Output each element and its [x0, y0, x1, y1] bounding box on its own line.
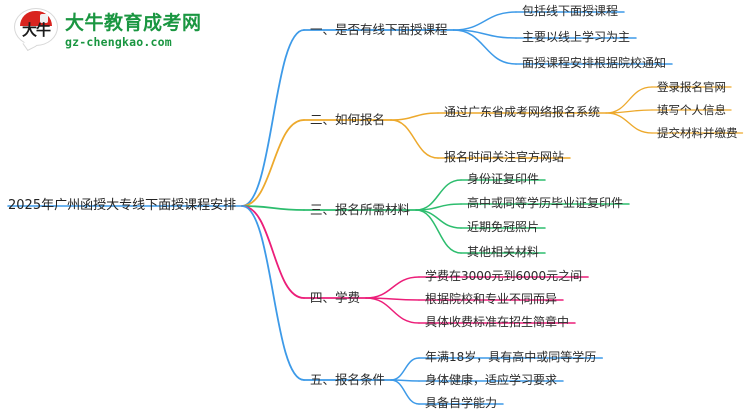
mindmap-leaf-label-2-1-2[interactable]: 填写个人信息	[657, 103, 726, 118]
mindmap-child-label-1-1[interactable]: 包括线下面授课程	[522, 4, 618, 19]
mindmap-branch-label-3[interactable]: 三、报名所需材料	[310, 202, 410, 217]
mindmap-child-label-3-1[interactable]: 身份证复印件	[467, 172, 539, 187]
mindmap-branch-label-1[interactable]: 一、是否有线下面授课程	[310, 22, 448, 37]
mindmap-branch-label-2[interactable]: 二、如何报名	[310, 112, 385, 127]
mindmap-child-label-3-4[interactable]: 其他相关材料	[467, 245, 539, 260]
mindmap-child-label-4-3[interactable]: 具体收费标准在招生简章中	[425, 315, 569, 330]
mindmap-child-label-5-1[interactable]: 年满18岁，具有高中或同等学历	[425, 350, 596, 365]
mindmap-child-label-1-3[interactable]: 面授课程安排根据院校通知	[522, 56, 666, 71]
mindmap-child-label-5-2[interactable]: 身体健康，适应学习要求	[425, 373, 557, 388]
mindmap-child-label-3-2[interactable]: 高中或同等学历毕业证复印件	[467, 196, 623, 211]
mindmap-leaf-label-2-1-1[interactable]: 登录报名官网	[657, 80, 726, 95]
mindmap-branch-label-4[interactable]: 四、学费	[310, 290, 360, 305]
mindmap-child-label-3-3[interactable]: 近期免冠照片	[467, 220, 539, 235]
mindmap-canvas: 2025年广州函授大专线下面授课程安排一、是否有线下面授课程包括线下面授课程主要…	[0, 0, 750, 410]
mindmap-child-label-2-2[interactable]: 报名时间关注官方网站	[444, 150, 564, 165]
mindmap-child-label-2-1[interactable]: 通过广东省成考网络报名系统	[444, 105, 600, 120]
mindmap-branch-label-5[interactable]: 五、报名条件	[310, 372, 385, 387]
mindmap-root-label[interactable]: 2025年广州函授大专线下面授课程安排	[8, 198, 236, 213]
mindmap-child-label-5-3[interactable]: 具备自学能力	[425, 396, 497, 411]
mindmap-child-label-1-2[interactable]: 主要以线上学习为主	[522, 30, 630, 45]
mindmap-leaf-label-2-1-3[interactable]: 提交材料并缴费	[657, 126, 738, 141]
mindmap-child-label-4-2[interactable]: 根据院校和专业不同而异	[425, 292, 557, 307]
mindmap-child-label-4-1[interactable]: 学费在3000元到6000元之间	[425, 269, 582, 284]
